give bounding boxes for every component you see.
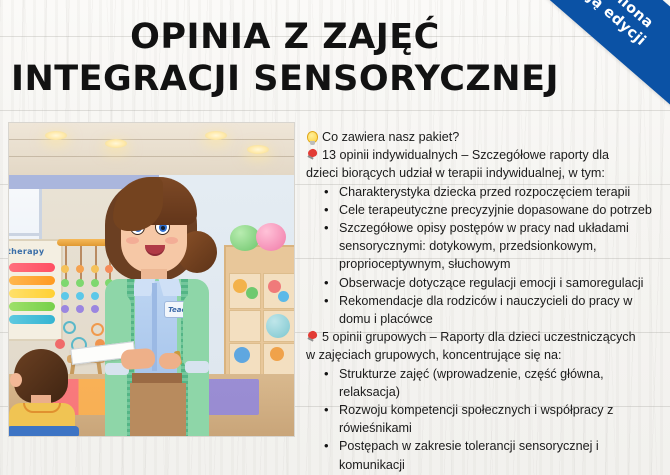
section-2-heading-line-1: 5 opinii grupowych – Raporty dla dzieci … xyxy=(322,328,664,346)
therapist-hand-right xyxy=(159,353,181,369)
therapy-room-illustration: therapy xyxy=(8,122,295,437)
ring-toy-icon xyxy=(91,323,104,336)
wall-chart-label: therapy xyxy=(8,247,44,256)
list-item: Charakterystyka dziecka przed rozpoczęci… xyxy=(324,183,664,201)
child-collar xyxy=(23,403,61,413)
title-line-2: INTEGRACJI SENSORYCZNEJ xyxy=(10,62,560,97)
pink-ball xyxy=(256,223,286,251)
title-line-1: OPINIA Z ZAJĘĆ xyxy=(10,20,560,55)
pushpin-icon xyxy=(306,146,322,164)
ceiling xyxy=(9,123,294,175)
ceiling-light-icon xyxy=(45,131,67,140)
therapist-arm-right xyxy=(183,293,209,371)
ceiling-light-icon xyxy=(105,139,127,148)
poster-canvas: OPINIA Z ZAJĘĆ INTEGRACJI SENSORYCZNEJ u… xyxy=(0,0,670,475)
intro-text: Co zawiera nasz pakiet? xyxy=(322,128,664,146)
toy-shelf xyxy=(224,245,295,379)
content-column: Co zawiera nasz pakiet? 13 opinii indywi… xyxy=(306,128,664,475)
section-1-heading-row: 13 opinii indywidualnych – Szczegółowe r… xyxy=(306,146,664,164)
section-2-bullets: Strukturze zajęć (wprowadzenie, część gł… xyxy=(306,365,664,475)
section-1-heading-line-1: 13 opinii indywidualnych – Szczegółowe r… xyxy=(322,146,664,164)
intro-row: Co zawiera nasz pakiet? xyxy=(306,128,664,146)
list-item: Szczegółowe opisy postępów w pracy nad u… xyxy=(324,219,664,274)
list-item: Postępach w zakresie tolerancji sensoryc… xyxy=(324,437,664,473)
list-item: Rozwoju kompetencji społecznych i współp… xyxy=(324,401,664,437)
section-2-heading-line-2: w zajęciach grupowych, koncentrujące się… xyxy=(306,346,664,364)
list-item: Rekomendacje dla rodziców i nauczycieli … xyxy=(324,292,664,328)
blue-ball xyxy=(266,314,290,338)
section-1-bullets: Charakterystyka dziecka przed rozpoczęci… xyxy=(306,183,664,329)
list-item: Strukturze zajęć (wprowadzenie, część gł… xyxy=(324,365,664,401)
therapist-hand xyxy=(120,348,155,370)
list-item: Obserwacje dotyczące regulacji emocji i … xyxy=(324,274,664,292)
section-1-heading-line-2: dzieci biorących udział w terapii indywi… xyxy=(306,164,664,182)
ceiling-light-icon xyxy=(247,145,269,154)
lightbulb-icon xyxy=(306,128,322,146)
wall-therapy-chart: therapy xyxy=(8,239,63,341)
pushpin-icon xyxy=(306,328,322,346)
therapist-skirt xyxy=(130,383,186,436)
page-title: OPINIA Z ZAJĘĆ INTEGRACJI SENSORYCZNEJ xyxy=(0,20,560,97)
cuff-right xyxy=(185,361,209,373)
ring-toy-icon xyxy=(63,321,76,334)
child-ear xyxy=(10,373,22,387)
ceiling-light-icon xyxy=(205,131,227,140)
section-2-heading-row: 5 opinii grupowych – Raporty dla dzieci … xyxy=(306,328,664,346)
child-chair xyxy=(8,426,79,437)
list-item: Cele terapeutyczne precyzyjnie dopasowan… xyxy=(324,201,664,219)
